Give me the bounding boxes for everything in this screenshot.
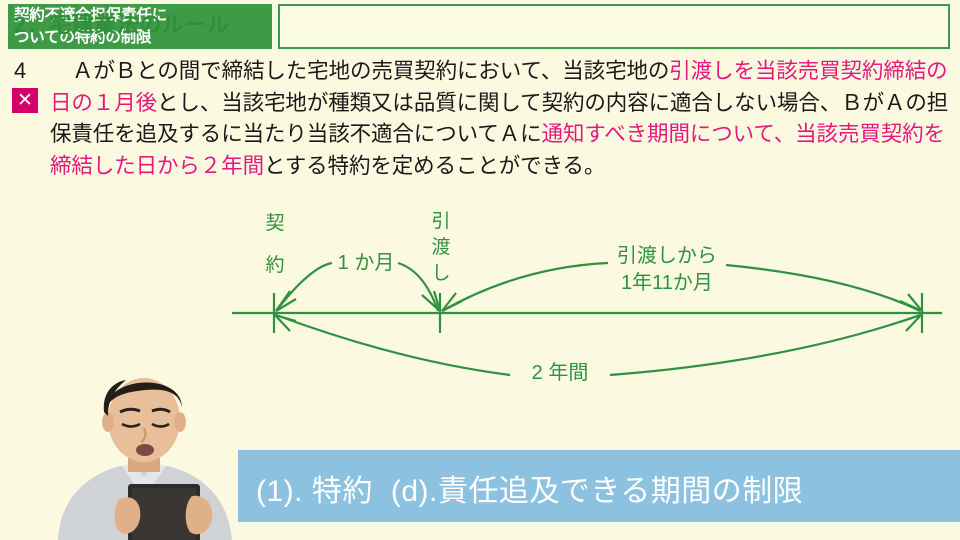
arc-after-delivery-right bbox=[726, 265, 920, 311]
arc-two-years-left bbox=[276, 315, 510, 375]
label-one-month: 1 か月 bbox=[332, 251, 400, 276]
label-delivery-char-1: 引 bbox=[424, 209, 458, 235]
arrowhead-one-month-start bbox=[276, 291, 296, 311]
label-delivery-char-2: 渡 bbox=[424, 235, 458, 261]
caption-part-2: (d).責任追及できる期間の制限 bbox=[391, 475, 803, 508]
label-two-years: 2 年間 bbox=[512, 361, 608, 386]
answer-incorrect-badge: ✕ bbox=[12, 88, 38, 113]
header-title: 2．宅建業法のルール bbox=[14, 7, 229, 39]
arrowhead-two-years-start bbox=[275, 315, 296, 331]
label-contract-char-2: 約 bbox=[258, 251, 292, 281]
presenter-video-overlay bbox=[42, 368, 242, 540]
arc-two-years-right bbox=[610, 315, 920, 375]
caption-text: (1). 特約(d).責任追及できる期間の制限 bbox=[256, 466, 803, 510]
presenter-ear-right bbox=[174, 412, 186, 432]
slide-canvas: 契約不適合担保責任に ついての特約の制限 2．宅建業法のルール 4 ✕ ＡがＢと… bbox=[0, 0, 960, 540]
presenter-figure bbox=[42, 368, 242, 540]
caption-bar: (1). 特約(d).責任追及できる期間の制限 bbox=[238, 450, 960, 522]
question-line2-plain: とし、当該宅地が種類又は品質に関して契約の内容に適合しない bbox=[157, 91, 777, 115]
label-after-delivery-line-2: 1年11か月 bbox=[604, 270, 730, 297]
header-band: 契約不適合担保責任に ついての特約の制限 2．宅建業法のルール bbox=[0, 0, 960, 52]
presenter-mouth bbox=[136, 444, 154, 456]
label-delivery-char-3: し bbox=[424, 261, 458, 287]
label-delivery: 引 渡 し bbox=[424, 209, 458, 287]
question-line3-highlight: 通知すべき期間 bbox=[542, 122, 690, 146]
caption-part-1: (1). 特約 bbox=[256, 475, 373, 508]
question-line1-plain: ＡがＢとの間で締結した宅地の売買契約において、当該宅地の bbox=[72, 59, 669, 83]
label-contract: 契 約 bbox=[258, 209, 292, 281]
question-text: ＡがＢとの間で締結した宅地の売買契約において、当該宅地の引渡しを当該売買契約締結… bbox=[50, 56, 950, 182]
question-line4-plain: とする特約を定めることができる。 bbox=[264, 154, 605, 178]
question-number: 4 bbox=[14, 58, 26, 84]
label-after-delivery: 引渡しから 1年11か月 bbox=[604, 243, 730, 297]
question-line1-highlight: 引渡しを当該売買契約 bbox=[669, 59, 883, 83]
label-contract-char-1: 契 bbox=[258, 209, 292, 239]
arrowhead-two-years-end bbox=[900, 315, 921, 331]
arc-after-delivery-left bbox=[442, 263, 608, 311]
arrowhead-after-delivery-start bbox=[442, 293, 462, 311]
header-title-box bbox=[278, 4, 950, 49]
arrowhead-after-delivery-end bbox=[900, 294, 922, 311]
label-after-delivery-line-1: 引渡しから bbox=[604, 243, 730, 270]
